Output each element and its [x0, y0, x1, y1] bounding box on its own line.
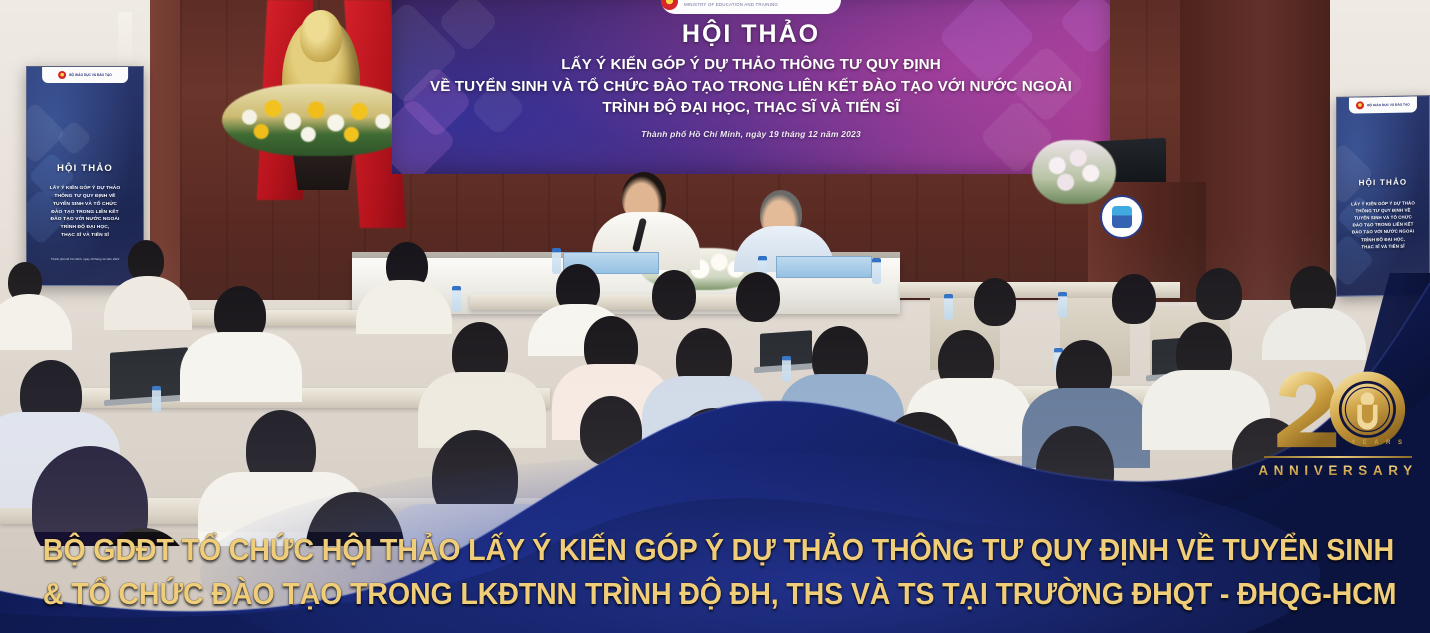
standee-right-heading: HỘI THẢO — [1337, 177, 1429, 188]
stage-banner: BỘ GIÁO DỤC VÀ ĐÀO TẠO MINISTRY OF EDUCA… — [392, 0, 1110, 174]
caption-line-2: & TỔ CHỨC ĐÀO TẠO TRONG LKĐTNN TRÌNH ĐỘ … — [43, 572, 1387, 617]
caption-line-1: BỘ GDĐT TỔ CHỨC HỘI THẢO LẤY Ý KIẾN GÓP … — [43, 528, 1387, 573]
ministry-name-en: MINISTRY OF EDUCATION AND TRAINING — [684, 2, 778, 7]
anniversary-word: ANNIVERSARY — [1258, 463, 1418, 478]
standee-left-body: LẤY Ý KIẾN GÓP Ý DỰ THẢO THÔNG TƯ QUY ĐỊ… — [31, 185, 139, 241]
vietnam-emblem-icon — [1356, 101, 1364, 109]
banner-line-1: LẤY Ý KIẾN GÓP Ý DỰ THẢO THÔNG TƯ QUY ĐỊ… — [392, 54, 1110, 76]
standee-right-moet-chip: BỘ GIÁO DỤC VÀ ĐÀO TẠO — [1349, 96, 1417, 113]
standee-right-ministry-vn: BỘ GIÁO DỤC VÀ ĐÀO TẠO — [1367, 103, 1410, 108]
standee-left-moet-chip: BỘ GIÁO DỤC VÀ ĐÀO TẠO — [42, 67, 128, 83]
vietnam-emblem-icon — [661, 0, 678, 10]
standee-left-ministry-vn: BỘ GIÁO DỤC VÀ ĐÀO TẠO — [69, 73, 112, 77]
event-photo-banner: BỘ GIÁO DỤC VÀ ĐÀO TẠO MINISTRY OF EDUCA… — [0, 0, 1430, 633]
moet-logo-chip: BỘ GIÁO DỤC VÀ ĐÀO TẠO MINISTRY OF EDUCA… — [661, 0, 841, 14]
stage-flower-arrangement — [1032, 140, 1116, 204]
banner-heading: HỘI THẢO — [392, 20, 1110, 49]
banner-date: Thành phố Hồ Chí Minh, ngày 19 tháng 12 … — [392, 129, 1110, 139]
international-university-logo — [1100, 195, 1144, 239]
anniversary-20-mark — [1258, 368, 1418, 460]
standee-left-heading: HỘI THẢO — [27, 163, 143, 174]
ho-chi-minh-bust-head — [300, 10, 342, 62]
banner-line-2: VỀ TUYỂN SINH VÀ TỔ CHỨC ĐÀO TẠO TRONG L… — [392, 76, 1110, 98]
caption-block: BỘ GDĐT TỔ CHỨC HỘI THẢO LẤY Ý KIẾN GÓP … — [0, 528, 1430, 617]
vietnam-emblem-icon — [58, 71, 66, 79]
anniversary-logo: Y E A R S ANNIVERSARY — [1258, 368, 1418, 500]
anniversary-years-label: Y E A R S — [1351, 440, 1405, 446]
flower-wreath — [222, 84, 418, 156]
banner-line-3: TRÌNH ĐỘ ĐẠI HỌC, THẠC SĨ VÀ TIẾN SĨ — [392, 97, 1110, 119]
anniversary-divider — [1264, 456, 1412, 458]
